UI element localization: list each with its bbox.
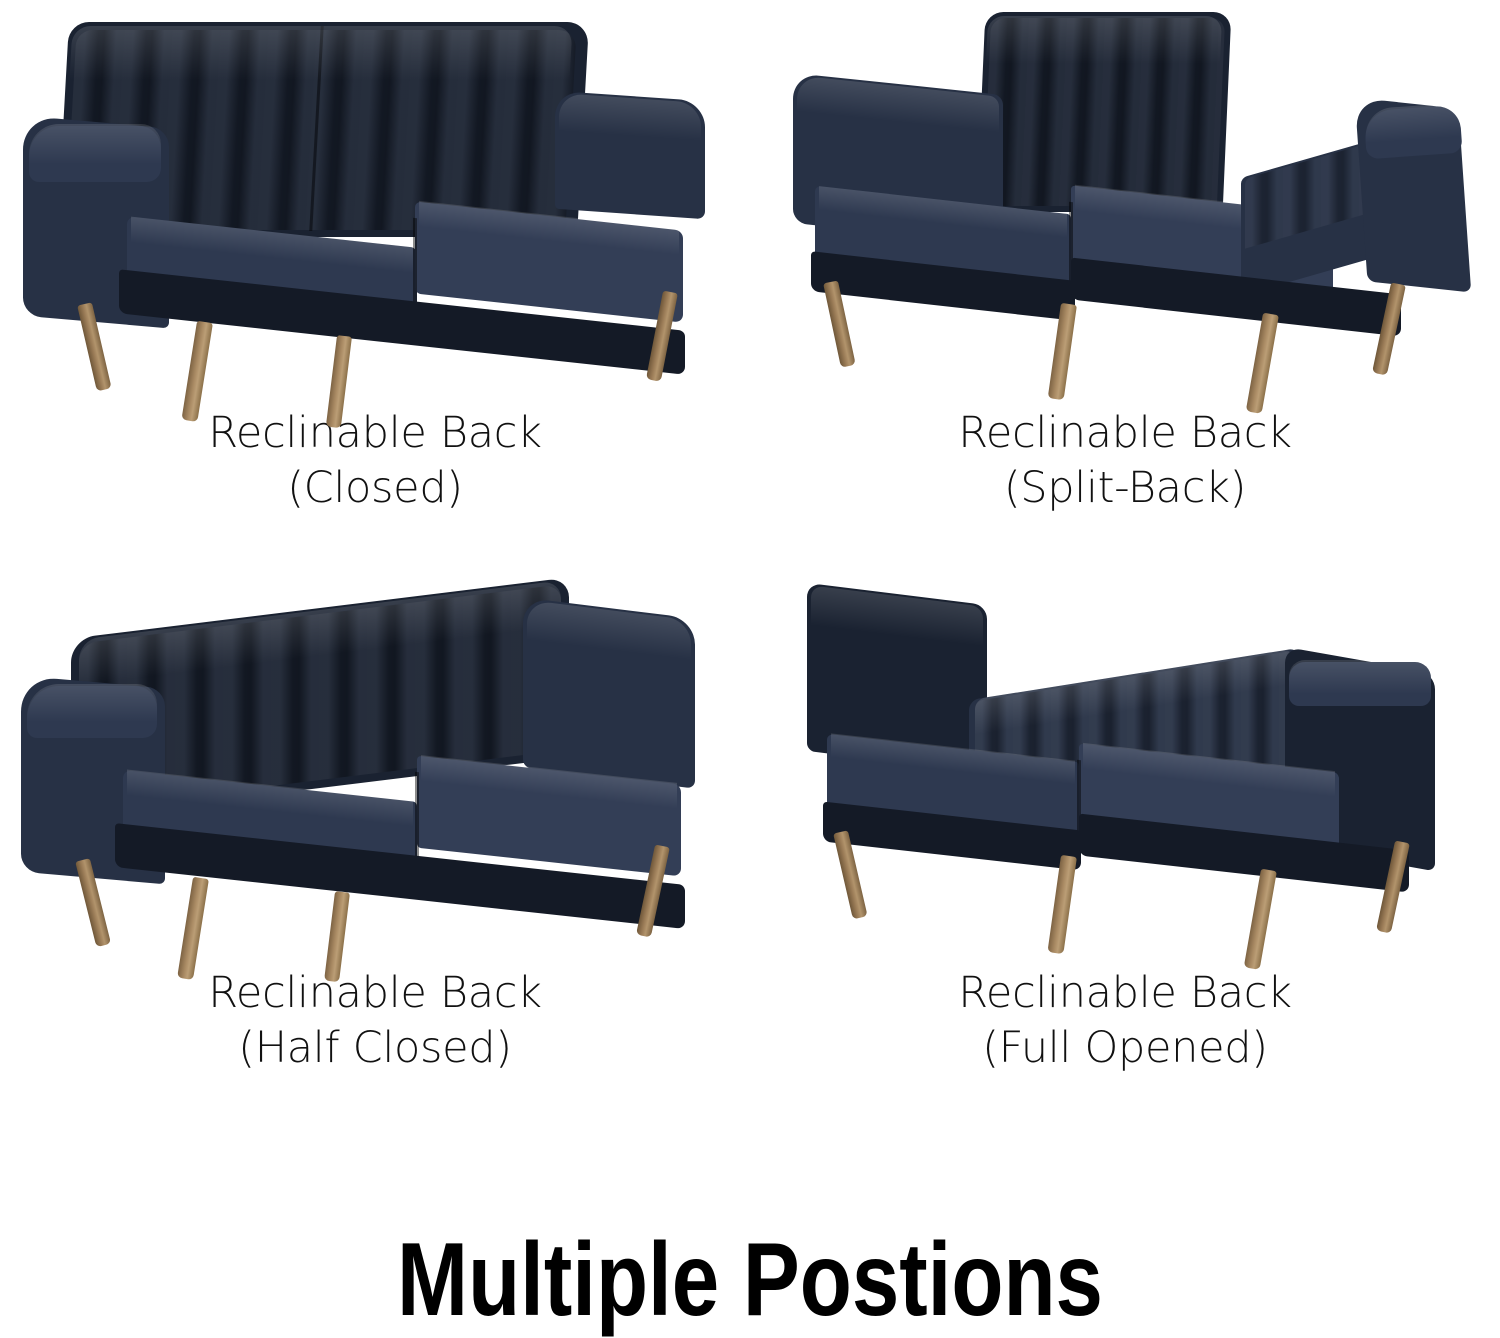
sofa-half-closed-illustration: [15, 564, 735, 954]
caption-split-back: Reclinable Back (Split-Back): [958, 406, 1291, 516]
grid-cell-half-closed: Reclinable Back (Half Closed): [0, 560, 750, 1120]
sofa-full-opened-illustration: [765, 564, 1485, 954]
grid-cell-split-back: Reclinable Back (Split-Back): [750, 0, 1500, 560]
caption-full-opened: Reclinable Back (Full Opened): [958, 966, 1291, 1076]
sofa-image-closed: [15, 4, 735, 394]
sofa-image-half-closed: [15, 564, 735, 954]
sofa-image-full-opened: [765, 564, 1485, 954]
product-infographic: Reclinable Back (Closed): [0, 0, 1500, 1337]
grid-cell-closed: Reclinable Back (Closed): [0, 0, 750, 560]
sofa-closed-illustration: [15, 4, 735, 394]
caption-closed: Reclinable Back (Closed): [208, 406, 541, 516]
position-grid: Reclinable Back (Closed): [0, 0, 1500, 1120]
sofa-image-split-back: [765, 4, 1485, 394]
grid-cell-full-opened: Reclinable Back (Full Opened): [750, 560, 1500, 1120]
sofa-split-back-illustration: [765, 4, 1485, 394]
page-headline: Multiple Postions: [135, 1228, 1365, 1332]
caption-half-closed: Reclinable Back (Half Closed): [208, 966, 541, 1076]
